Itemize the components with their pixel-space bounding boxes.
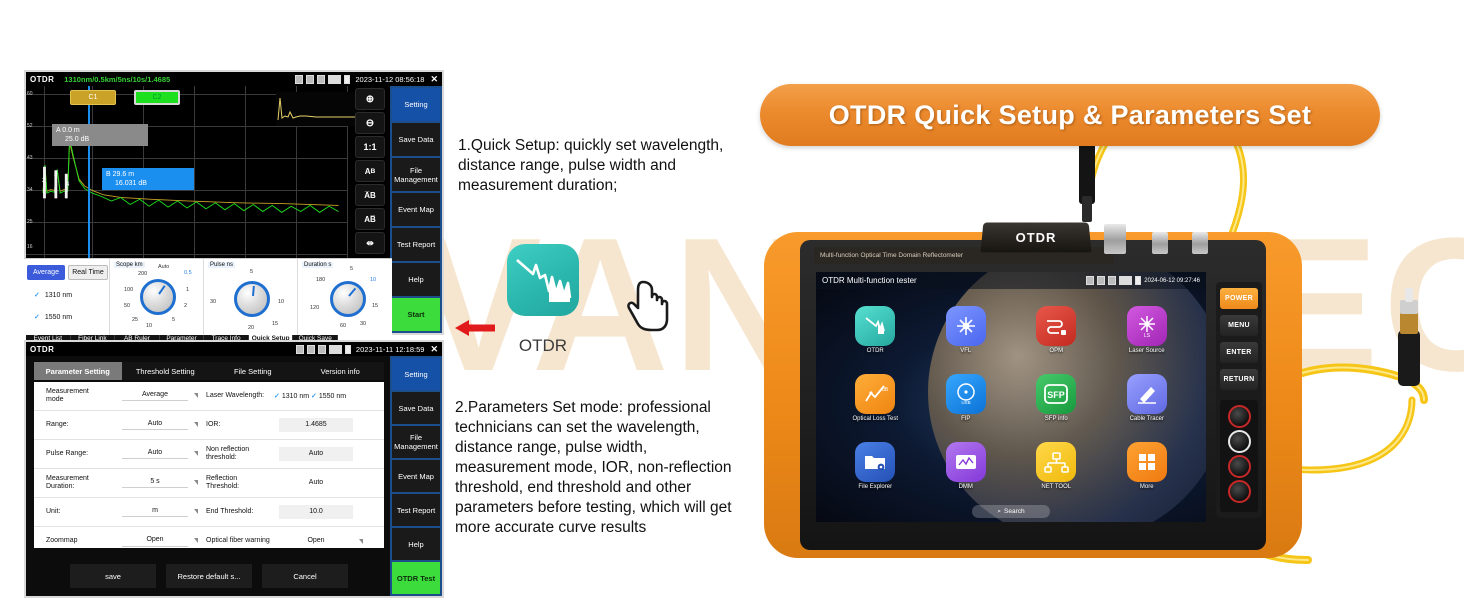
zoom-in-icon[interactable]: ⊕: [355, 88, 385, 110]
range-select[interactable]: Auto: [122, 420, 188, 431]
non-reflection-threshold-label: Non reflection threshold:: [206, 446, 272, 463]
app-label: NET TOOL: [1041, 484, 1071, 490]
trace-params-readout: 1310nm/0.5km/5ns/10s/1.4685: [64, 75, 170, 84]
check-icon: ✓: [34, 292, 40, 299]
zoommap-select[interactable]: Open: [122, 536, 188, 547]
trace-sidebar: Setting Save Data File Management Event …: [390, 86, 442, 333]
device-screen[interactable]: OTDR Multi-function tester 2024-06-12 09…: [816, 272, 1206, 522]
pulse-range-select[interactable]: Auto: [122, 449, 188, 460]
optical-port-1: [1104, 224, 1126, 254]
sidebar-item-help[interactable]: Help: [392, 528, 440, 560]
search-icon: ⌕: [997, 508, 1001, 516]
pulse-dial-column: Pulse ns 5 10 15 20 30 1: [204, 259, 298, 335]
event-number: 2: [42, 178, 45, 184]
param-sidebar: Setting Save Data File Management Event …: [390, 356, 442, 596]
check-icon: ✓: [311, 393, 317, 400]
marker-a-box[interactable]: A 0.0 m 25.0 dB: [52, 124, 148, 146]
marker-b-name: B: [106, 171, 111, 178]
otdr-module-label: OTDR: [981, 222, 1092, 252]
device-app-grid: OTDR VFL OPM LS: [830, 296, 1192, 500]
param-row: Measurement Duration: 5 s Reflection Thr…: [34, 469, 384, 498]
app-sfp-info[interactable]: SFP SFP info: [1011, 364, 1102, 432]
return-key[interactable]: RETURN: [1220, 369, 1258, 390]
param-row: Range: Auto IOR: 1.4685: [34, 411, 384, 440]
pulse-mark: 5: [250, 269, 253, 275]
trace-status-bar: OTDR 1310nm/0.5km/5ns/10s/1.4685 2023-11…: [26, 72, 442, 86]
fc-connector-icon: [1398, 288, 1420, 386]
scope-dial[interactable]: [140, 279, 176, 315]
param-datetime: 2023-11-11 12:18:59: [356, 345, 425, 354]
sd-card-icon: [1086, 276, 1094, 285]
wifi-icon: [318, 345, 326, 354]
optical-fiber-warning-select[interactable]: Open: [279, 537, 353, 546]
app-label: Optical Loss Test: [852, 416, 898, 422]
event-number: 3: [54, 172, 57, 178]
lan-icon: [328, 75, 341, 84]
scope-mark: 200: [138, 271, 147, 277]
app-optical-loss-test[interactable]: dB Optical Loss Test: [830, 364, 921, 432]
close-icon[interactable]: ✕: [430, 344, 438, 355]
sidebar-item-file-management[interactable]: File Management: [392, 426, 440, 458]
otdr-parameter-screen: OTDR 2023-11-11 12:18:59 ✕ Parameter Set…: [24, 340, 444, 598]
duration-mark: 15: [372, 303, 378, 309]
duration-value: 10: [370, 277, 376, 283]
power-key[interactable]: POWER: [1220, 288, 1258, 309]
app-label: Laser Source: [1129, 348, 1165, 354]
wavelength-1310-label: 1310 nm: [45, 292, 72, 299]
hand-pointer-icon: [625, 278, 671, 332]
measurement-duration-select[interactable]: 5 s: [122, 478, 188, 489]
marker-a-loss: 25.0 dB: [65, 136, 89, 143]
fit-width-icon[interactable]: ⇹: [355, 232, 385, 254]
sidebar-item-event-map[interactable]: Event Map: [392, 193, 440, 226]
laser-wavelength-label: Laser Wavelength:: [206, 392, 272, 401]
zoom-reset-button[interactable]: 1:1: [355, 136, 385, 158]
zoom-out-icon[interactable]: ⊖: [355, 112, 385, 134]
app-label: More: [1140, 484, 1154, 490]
svg-text:LS: LS: [1144, 333, 1151, 339]
param-status-bar: OTDR 2023-11-11 12:18:59 ✕: [26, 342, 442, 356]
event-number: 4: [66, 182, 69, 188]
app-label: SFP info: [1045, 416, 1068, 422]
optical-port-3: [1192, 232, 1208, 254]
pulse-range-label: Pulse Range:: [46, 450, 108, 459]
wavelength-1310-checkbox[interactable]: ✓ 1310 nm: [34, 291, 72, 299]
laser-wavelength-checks[interactable]: ✓ 1310 nm ✓ 1550 nm: [274, 392, 346, 400]
scope-mark: 25: [132, 317, 138, 323]
svg-text:SFP: SFP: [1047, 390, 1065, 400]
svg-text:dB: dB: [882, 387, 888, 393]
reflection-threshold-field[interactable]: Auto: [279, 479, 353, 488]
cable-tracer-icon: [1127, 374, 1167, 414]
non-reflection-threshold-field[interactable]: Auto: [279, 447, 353, 462]
jack-voltage[interactable]: [1228, 405, 1251, 428]
check-icon: ✓: [34, 314, 40, 321]
fip-icon: USB: [946, 374, 986, 414]
start-button[interactable]: Start: [392, 298, 440, 331]
app-label: OPM: [1049, 348, 1063, 354]
app-cable-tracer[interactable]: Cable Tracer: [1102, 364, 1193, 432]
duration-dial[interactable]: [330, 281, 366, 317]
scope-mark: 10: [146, 323, 152, 329]
caption-parameters-set: 2.Parameters Set mode: professional tech…: [455, 398, 745, 538]
pulse-mark: 10: [278, 299, 284, 305]
otdr-icon: [855, 306, 895, 346]
param-row: Zoommap Open Optical fiber warning Open: [34, 527, 384, 556]
restore-default-button[interactable]: Restore default s...: [166, 564, 252, 588]
banner-title: OTDR Quick Setup & Parameters Set: [760, 84, 1380, 146]
app-dmm[interactable]: DMM: [921, 432, 1012, 500]
opm-icon: [1036, 306, 1076, 346]
param-form: Measurement mode Average Laser Wavelengt…: [34, 382, 384, 548]
cancel-button[interactable]: Cancel: [262, 564, 348, 588]
param-row: Pulse Range: Auto Non reflection thresho…: [34, 440, 384, 469]
app-vfl[interactable]: VFL: [921, 296, 1012, 364]
duration-mark: 120: [310, 305, 319, 311]
quick-setup-mode-column: Average Real Time ✓ 1310 nm ✓ 1550 nm: [24, 259, 110, 335]
battery-icon: [345, 345, 351, 354]
curve-c2-badge[interactable]: C2: [134, 90, 180, 105]
curve-c1-badge[interactable]: C1: [70, 90, 116, 105]
tab-parameter-setting[interactable]: Parameter Setting: [34, 362, 122, 380]
mode-real-time-button[interactable]: Real Time: [68, 265, 108, 280]
sidebar-item-help[interactable]: Help: [392, 263, 440, 296]
marker-b-box[interactable]: B 29.6 m 16.031 dB: [102, 168, 194, 190]
quick-setup-panel: Average Real Time ✓ 1310 nm ✓ 1550 nm Sc…: [24, 258, 392, 335]
trace-app-title: OTDR: [30, 75, 54, 84]
app-label: DMM: [959, 484, 973, 490]
duration-mark: 5: [350, 266, 353, 272]
tab-file-setting[interactable]: File Setting: [209, 362, 297, 380]
device-screen-datetime: 2024-06-12 09:27:46: [1144, 278, 1200, 284]
duration-mark: 180: [316, 277, 325, 283]
lan-icon: [329, 345, 342, 354]
page-root: VANLU TECH OTDR 1310nm/0.5km/5ns/10s/1.4…: [0, 0, 1464, 600]
device-screen-status-bar: OTDR Multi-function tester 2024-06-12 09…: [816, 272, 1206, 289]
otdr-test-button[interactable]: OTDR Test: [392, 562, 440, 594]
svg-text:USB: USB: [961, 400, 970, 405]
sd-card-icon: [295, 75, 303, 84]
search-label: Search: [1004, 508, 1025, 515]
banner-title-text: OTDR Quick Setup & Parameters Set: [760, 84, 1380, 146]
screenshot-icon: [306, 75, 314, 84]
param-row: Measurement mode Average Laser Wavelengt…: [34, 382, 384, 411]
y-tick: 16: [27, 244, 33, 250]
scope-dial-column: Scope km Auto 0.5 200 100 50 25 10 5 2 1: [110, 259, 204, 335]
range-label: Range:: [46, 421, 108, 430]
ior-label: IOR:: [206, 421, 272, 430]
app-laser-source[interactable]: LS Laser Source: [1102, 296, 1193, 364]
pulse-mark: 15: [272, 321, 278, 327]
duration-dial-label: Duration s: [302, 262, 333, 268]
battery-icon: [1135, 276, 1141, 285]
scope-mark: 5: [172, 317, 175, 323]
pulse-mark: 20: [248, 325, 254, 331]
search-bar[interactable]: ⌕ Search: [972, 505, 1050, 518]
net-tool-icon: [1036, 442, 1076, 482]
sidebar-item-event-map[interactable]: Event Map: [392, 460, 440, 492]
dmm-jack-block: [1220, 400, 1258, 512]
sidebar-item-setting[interactable]: Setting: [392, 358, 440, 390]
mode-average-button[interactable]: Average: [27, 265, 65, 280]
app-more[interactable]: More: [1102, 432, 1193, 500]
scope-dial-label: Scope km: [114, 262, 145, 268]
menu-key[interactable]: MENU: [1220, 315, 1258, 336]
optical-loss-test-icon: dB: [855, 374, 895, 414]
measurement-mode-select[interactable]: Average: [122, 391, 188, 402]
marker-b-distance: 29.6 m: [113, 171, 134, 178]
ab-jump-icon[interactable]: AB: [355, 160, 385, 182]
app-label: Cable Tracer: [1130, 416, 1164, 422]
tab-threshold-setting[interactable]: Threshold Setting: [122, 362, 210, 380]
scope-value: 0.5: [184, 270, 192, 276]
device-key-column: POWER MENU ENTER RETURN: [1216, 282, 1262, 518]
unit-select[interactable]: m: [122, 507, 188, 518]
end-threshold-label: End Threshold:: [206, 508, 272, 517]
param-content: Parameter Setting Threshold Setting File…: [26, 356, 390, 596]
param-app-title: OTDR: [30, 345, 54, 354]
reflection-threshold-label: Reflection Threshold:: [206, 475, 272, 492]
scope-auto-label[interactable]: Auto: [158, 264, 169, 270]
wifi-icon: [317, 75, 325, 84]
scope-mark: 1: [186, 287, 189, 293]
unit-label: Unit:: [46, 508, 108, 517]
app-net-tool[interactable]: NET TOOL: [1011, 432, 1102, 500]
sfp-info-icon: SFP: [1036, 374, 1076, 414]
scope-mark: 50: [124, 303, 130, 309]
ior-field[interactable]: 1.4685: [279, 418, 353, 433]
duration-dial-column: Duration s 5 10 15 30 60 120 180: [298, 259, 392, 335]
wavelength-1550-checkbox[interactable]: ✓ 1550 nm: [34, 313, 72, 321]
a-b-right-icon[interactable]: AB̅: [355, 208, 385, 230]
dmm-icon: [946, 442, 986, 482]
red-arrow-icon: [455, 318, 495, 338]
otdr-app-icon[interactable]: [507, 244, 579, 316]
optical-port-2: [1152, 232, 1168, 254]
laser-source-icon: LS: [1127, 306, 1167, 346]
param-button-bar: save Restore default s... Cancel: [34, 564, 384, 588]
wavelength-1550-label: 1550 nm: [319, 393, 346, 400]
param-row: Unit: m End Threshold: 10.0: [34, 498, 384, 527]
app-fip[interactable]: USB FIP: [921, 364, 1012, 432]
save-button[interactable]: save: [70, 564, 156, 588]
sidebar-item-save-data[interactable]: Save Data: [392, 123, 440, 156]
a-left-b-icon[interactable]: A̅B: [355, 184, 385, 206]
more-icon: [1127, 442, 1167, 482]
device-screen-title: OTDR Multi-function tester: [822, 276, 917, 285]
wifi-icon: [1108, 276, 1116, 285]
scope-mark: 100: [124, 287, 133, 293]
battery-icon: [344, 75, 350, 84]
tab-version-info[interactable]: Version info: [297, 362, 385, 380]
marker-a-distance: 0.0 m: [62, 127, 80, 134]
marker-b-loss: 16.031 dB: [115, 180, 147, 187]
sd-card-icon: [296, 345, 304, 354]
zoommap-label: Zoommap: [46, 537, 108, 546]
duration-mark: 30: [360, 321, 366, 327]
jack-10a[interactable]: [1228, 480, 1251, 503]
pulse-dial[interactable]: [234, 281, 270, 317]
sidebar-item-save-data[interactable]: Save Data: [392, 392, 440, 424]
duration-mark: 60: [340, 323, 346, 329]
otdr-trace-glyph: [507, 244, 579, 316]
trace-datetime: 2023-11-12 08:56:18: [355, 75, 424, 84]
close-icon[interactable]: ✕: [430, 74, 438, 85]
sidebar-item-setting[interactable]: Setting: [392, 88, 440, 121]
end-threshold-field[interactable]: 10.0: [279, 505, 353, 520]
app-otdr[interactable]: OTDR: [830, 296, 921, 364]
pulse-dial-label: Pulse ns: [208, 262, 235, 268]
app-label: FIP: [961, 416, 970, 422]
screenshot-icon: [307, 345, 315, 354]
screenshot-icon: [1097, 276, 1105, 285]
app-label: VFL: [960, 348, 971, 354]
jack-milliamp[interactable]: [1228, 455, 1251, 478]
sidebar-item-file-management[interactable]: File Management: [392, 158, 440, 191]
caption-quick-setup: 1.Quick Setup: quickly set wavelength, d…: [458, 136, 743, 196]
wavelength-1310-label: 1310 nm: [282, 393, 309, 400]
app-opm[interactable]: OPM: [1011, 296, 1102, 364]
enter-key[interactable]: ENTER: [1220, 342, 1258, 363]
product-photo-scene: OTDR Quick Setup & Parameters Set Multi-…: [752, 0, 1464, 600]
scope-mark: 2: [184, 303, 187, 309]
app-label: OTDR: [867, 348, 884, 354]
check-icon: ✓: [274, 393, 280, 400]
optical-fiber-warning-label: Optical fiber warning: [206, 537, 272, 546]
app-label: File Explorer: [858, 484, 892, 490]
jack-common[interactable]: [1228, 430, 1251, 453]
otdr-app-icon-label: OTDR: [495, 336, 591, 356]
lan-icon: [1119, 276, 1132, 285]
file-explorer-icon: [855, 442, 895, 482]
param-tab-bar: Parameter Setting Threshold Setting File…: [34, 362, 384, 380]
app-file-explorer[interactable]: File Explorer: [830, 432, 921, 500]
pulse-mark: 30: [210, 299, 216, 305]
wavelength-1550-label: 1550 nm: [45, 314, 72, 321]
marker-a-name: A: [56, 127, 60, 134]
measurement-mode-label: Measurement mode: [46, 388, 108, 405]
sidebar-item-test-report[interactable]: Test Report: [392, 494, 440, 526]
vfl-icon: [946, 306, 986, 346]
sidebar-item-test-report[interactable]: Test Report: [392, 228, 440, 261]
measurement-duration-label: Measurement Duration:: [46, 475, 108, 492]
